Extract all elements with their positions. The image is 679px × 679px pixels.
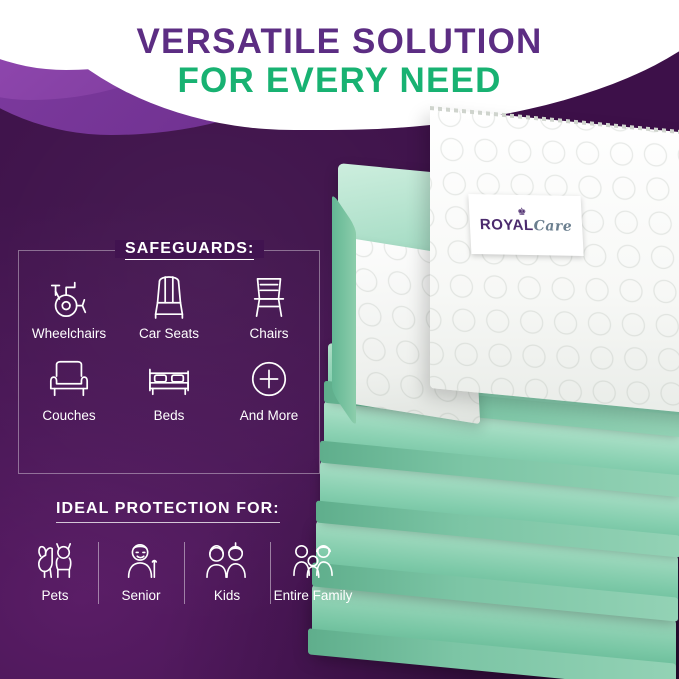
brand-sub-text: Care [533, 218, 572, 235]
safeguard-label: Beds [119, 408, 219, 423]
quilt-pattern-top [430, 108, 679, 416]
safeguard-label: And More [219, 408, 319, 423]
ideal-protection-row: Pets Senior [12, 538, 356, 604]
product-photo: ♚ ROYALCare [310, 60, 679, 679]
brand-name: ROYALCare [479, 216, 572, 235]
brand-label-tag: ♚ ROYALCare [468, 194, 583, 256]
safeguard-label: Couches [19, 408, 119, 423]
plus-circle-icon [219, 355, 319, 403]
couch-icon [19, 355, 119, 403]
kids-icon [186, 538, 268, 584]
ideal-label: Pets [14, 588, 96, 604]
safeguard-item-chairs: Chairs [219, 273, 319, 341]
ideal-item-senior: Senior [98, 538, 184, 604]
wheelchair-icon [19, 273, 119, 321]
safeguard-label: Wheelchairs [19, 326, 119, 341]
ideal-protection-title: IDEAL PROTECTION FOR: [56, 500, 280, 523]
headline: VERSATILE SOLUTION FOR EVERY NEED [0, 22, 679, 100]
ideal-label: Kids [186, 588, 268, 604]
safeguard-item-and-more: And More [219, 355, 319, 423]
safeguards-title: SAFEGUARDS: [115, 240, 264, 258]
safeguard-item-couches: Couches [19, 355, 119, 423]
family-icon [272, 538, 354, 584]
safeguard-label: Chairs [219, 326, 319, 341]
ideal-protection-title-wrap: IDEAL PROTECTION FOR: [56, 500, 280, 518]
chair-icon [219, 273, 319, 321]
safeguard-item-car-seats: Car Seats [119, 273, 219, 341]
ideal-label: Senior [100, 588, 182, 604]
ideal-item-kids: Kids [184, 538, 270, 604]
pad-white-top [430, 108, 679, 416]
headline-line-1: VERSATILE SOLUTION [0, 22, 679, 61]
safeguards-grid: Wheelchairs Car Seats [19, 273, 319, 423]
ideal-label: Entire Family [272, 588, 354, 604]
safeguard-item-wheelchairs: Wheelchairs [19, 273, 119, 341]
headline-line-2: FOR EVERY NEED [0, 61, 679, 100]
safeguard-item-beds: Beds [119, 355, 219, 423]
pets-icon [14, 538, 96, 584]
ideal-item-entire-family: Entire Family [270, 538, 356, 604]
senior-icon [100, 538, 182, 584]
product-infographic: VERSATILE SOLUTION FOR EVERY NEED ♚ ROYA… [0, 0, 679, 679]
crown-icon: ♚ [517, 207, 527, 218]
car-seat-icon [119, 273, 219, 321]
safeguard-label: Car Seats [119, 326, 219, 341]
safeguards-panel: SAFEGUARDS: Wheelchairs [18, 250, 320, 474]
pad-fold-mint-edge [332, 192, 356, 428]
ideal-item-pets: Pets [12, 538, 98, 604]
brand-name-text: ROYAL [479, 216, 534, 234]
bed-icon [119, 355, 219, 403]
